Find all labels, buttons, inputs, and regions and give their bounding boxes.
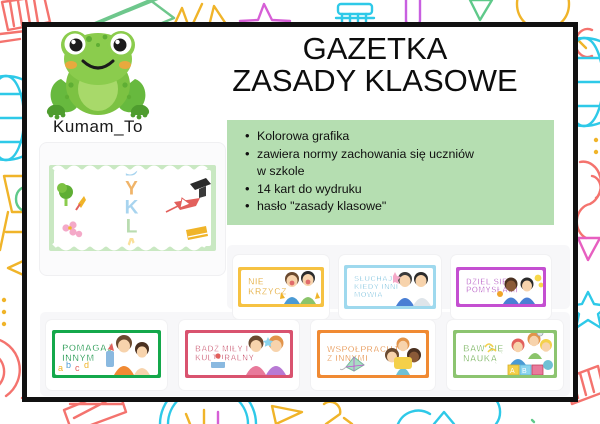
kite-icon [340, 355, 370, 373]
kids-shouting-illustration [279, 270, 321, 304]
card-zasady-klasowe: ZASADY KLASOWE [49, 165, 216, 251]
cake-icon [210, 351, 226, 369]
sparkle-icon [482, 339, 500, 357]
preview-tile-dziel-sie[interactable]: DZIEL SIĘ POMYSŁAMI [451, 255, 551, 319]
brand-block: Kumam_To [33, 29, 163, 137]
feature-list-panel: Kolorowa grafika zawiera normy zachowani… [227, 120, 554, 225]
page-title: GAZETKA ZASADY KLASOWE [177, 33, 573, 97]
kids-teamwork-illustration [380, 335, 426, 375]
rule-card: NIE KRZYCZ [238, 267, 324, 307]
pencil-mark-icon [76, 196, 86, 210]
svg-text:b: b [66, 360, 71, 370]
brand-name: Kumam_To [33, 117, 163, 137]
svg-text:a: a [58, 363, 63, 373]
kids-ideas-illustration [497, 274, 543, 304]
feature-item: zawiera normy zachowania się uczniów [257, 146, 544, 163]
preview-tile-sluchaj[interactable]: SŁUCHAJ, KIEDY INNI MÓWIĄ [339, 255, 441, 319]
preview-tile-main[interactable]: ZASADY KLASOWE [40, 143, 225, 275]
preview-tile-baw-sie[interactable]: BAW SIĘ NAUKĄ A B [447, 320, 563, 390]
feature-item: hasło "zasady klasowe" [257, 198, 544, 215]
rule-card: DZIEL SIĘ POMYSŁAMI [456, 267, 546, 307]
svg-text:A: A [510, 368, 515, 375]
kids-learning-illustration: A B [504, 333, 554, 375]
poster-frame: Kumam_To GAZETKA ZASADY KLASOWE Kolorowa… [22, 22, 578, 402]
svg-text:d: d [84, 360, 89, 370]
preview-tile-badz-mily[interactable]: BĄDŹ MIŁY I KULTURALNY [179, 320, 299, 390]
broccoli-icon [57, 183, 73, 206]
doodle-dot-bottom [532, 420, 534, 422]
preview-tile-pomagaj[interactable]: POMAGAJ INNYM a b c d [46, 320, 167, 390]
airplane-icon [166, 198, 200, 212]
flower-icon [62, 221, 82, 237]
svg-text:B: B [522, 368, 527, 375]
rule-card: POMAGAJ INNYM a b c d [52, 330, 161, 378]
kids-helping-illustration [106, 333, 158, 375]
kids-kind-illustration [240, 333, 290, 375]
graduation-cap-icon [190, 178, 211, 198]
rule-card: WSPÓŁPRACUJ Z INNYMI [317, 330, 429, 378]
rule-card: BAW SIĘ NAUKĄ A B [453, 330, 557, 378]
rule-card: BĄDŹ MIŁY I KULTURALNY [185, 330, 293, 378]
card-main-decor [54, 170, 211, 246]
frog-icon [45, 29, 151, 121]
svg-text:c: c [75, 363, 80, 373]
rule-card: SŁUCHAJ, KIEDY INNI MÓWIĄ [344, 265, 436, 309]
preview-tile-wspolpracuj[interactable]: WSPÓŁPRACUJ Z INNYMI [311, 320, 435, 390]
feature-item: 14 kart do wydruku [257, 181, 544, 198]
kids-listening-illustration [393, 268, 433, 306]
title-line-1: GAZETKA [177, 33, 573, 65]
preview-tile-nie-krzycz[interactable]: NIE KRZYCZ [233, 255, 329, 319]
abc-letters-icon: a b c d [57, 358, 97, 374]
books-icon [186, 226, 208, 240]
feature-list: Kolorowa grafika zawiera normy zachowani… [241, 128, 544, 215]
feature-item-cont: w szkole [257, 163, 544, 180]
title-line-2: ZASADY KLASOWE [177, 65, 573, 97]
feature-item: Kolorowa grafika [257, 128, 544, 145]
